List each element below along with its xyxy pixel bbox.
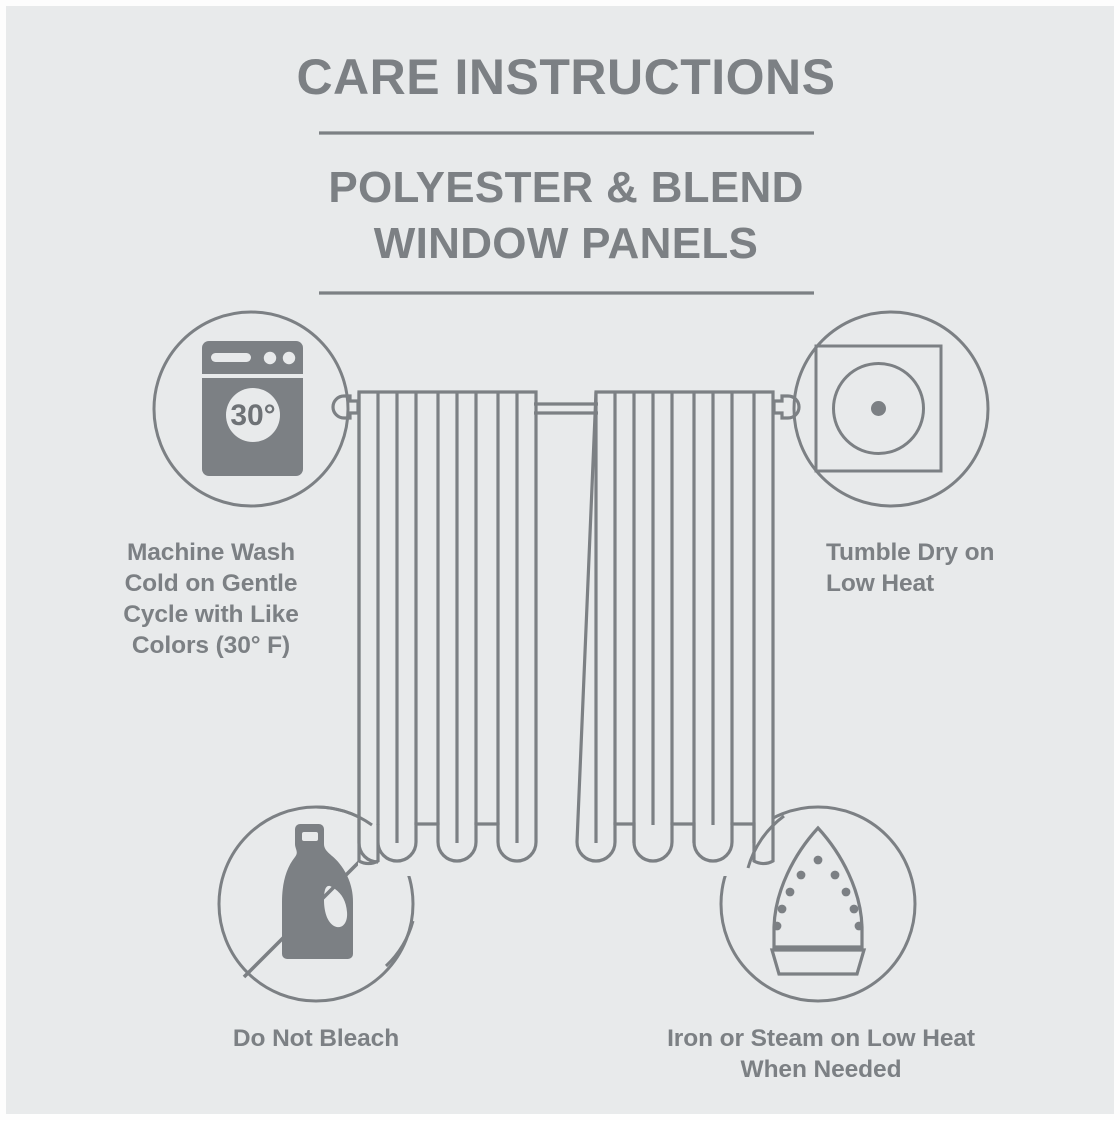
steam-holes — [773, 856, 864, 931]
dry-heat-dot — [871, 401, 886, 416]
infographic-artwork: CARE INSTRUCTIONS POLYESTER & BLEND WIND… — [6, 6, 1120, 1126]
caption-line: When Needed — [741, 1056, 902, 1083]
curtain-window-panels — [333, 390, 799, 876]
caption-line: Do Not Bleach — [233, 1025, 399, 1052]
care-instructions-infographic: CARE INSTRUCTIONS POLYESTER & BLEND WIND… — [0, 0, 1120, 1120]
caption-do-not-bleach: Do Not Bleach — [233, 1025, 399, 1052]
caption-line: Cycle with Like — [123, 601, 299, 628]
subtitle-line-1: POLYESTER & BLEND — [328, 163, 803, 212]
tumble-dry-low-heat-icon — [816, 346, 941, 471]
iron-steam-icon — [772, 828, 864, 974]
subtitle-line-2: WINDOW PANELS — [374, 219, 758, 268]
wash-temperature-value: 30° — [230, 399, 275, 432]
caption-machine-wash: Machine Wash Cold on Gentle Cycle with L… — [123, 539, 299, 659]
caption-tumble-dry: Tumble Dry on Low Heat — [826, 539, 994, 597]
washing-machine-icon: 30° — [202, 341, 303, 476]
caption-line: Cold on Gentle — [125, 570, 298, 597]
dry-circle-outline — [794, 312, 988, 506]
caption-line: Low Heat — [826, 570, 934, 597]
caption-iron: Iron or Steam on Low Heat When Needed — [667, 1025, 975, 1083]
page-title: CARE INSTRUCTIONS — [296, 49, 835, 105]
caption-line: Machine Wash — [127, 539, 295, 566]
caption-line: Colors (30° F) — [132, 632, 290, 659]
caption-line: Tumble Dry on — [826, 539, 994, 566]
left-finial — [333, 396, 358, 418]
caption-line: Iron or Steam on Low Heat — [667, 1025, 975, 1052]
